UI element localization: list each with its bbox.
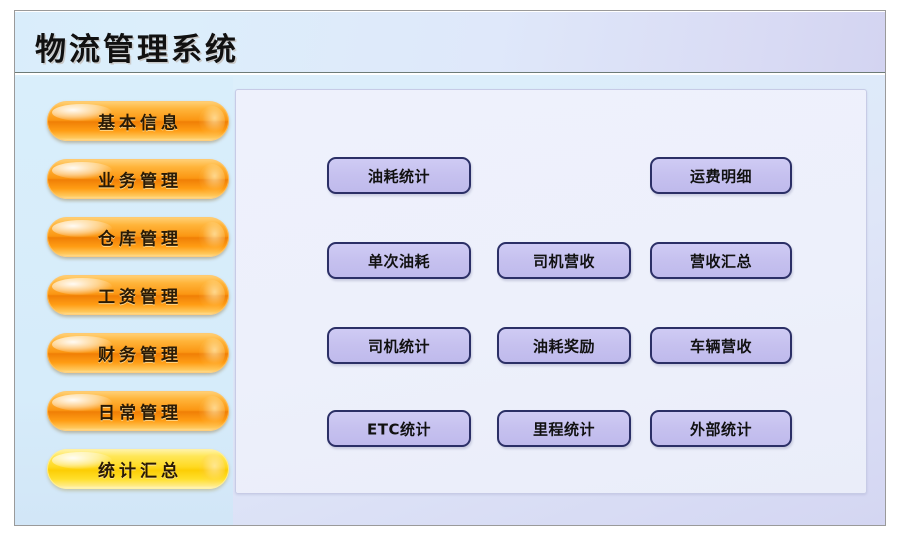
module-button-label: 外部统计 — [652, 418, 790, 439]
app-window: 物流管理系统 基本信息 业务管理 仓库管理 工资管理 财务管理 日常管理 统计汇… — [14, 10, 886, 526]
sidebar-item-label: 统计汇总 — [47, 457, 229, 482]
module-button-driver-revenue[interactable]: 司机营收 — [497, 242, 631, 279]
module-button-label: 司机统计 — [329, 335, 469, 356]
sidebar-item-label: 仓库管理 — [47, 225, 229, 250]
module-button-label: ETC统计 — [329, 418, 469, 439]
module-button-single-fuel[interactable]: 单次油耗 — [327, 242, 471, 279]
sidebar-item-label: 工资管理 — [47, 283, 229, 308]
sidebar-item-statistics[interactable]: 统计汇总 — [47, 449, 229, 489]
module-button-fuel-statistics[interactable]: 油耗统计 — [327, 157, 471, 194]
module-button-label: 运费明细 — [652, 165, 790, 186]
module-button-label: 营收汇总 — [652, 250, 790, 271]
sidebar-item-basic-info[interactable]: 基本信息 — [47, 101, 229, 141]
module-button-fuel-bonus[interactable]: 油耗奖励 — [497, 327, 631, 364]
sidebar-item-business[interactable]: 业务管理 — [47, 159, 229, 199]
module-button-revenue-summary[interactable]: 营收汇总 — [650, 242, 792, 279]
module-button-label: 里程统计 — [499, 418, 629, 439]
sidebar-nav: 基本信息 业务管理 仓库管理 工资管理 财务管理 日常管理 统计汇总 — [15, 77, 233, 525]
sidebar-item-warehouse[interactable]: 仓库管理 — [47, 217, 229, 257]
sidebar-item-label: 业务管理 — [47, 167, 229, 192]
module-button-label: 司机营收 — [499, 250, 629, 271]
content-panel: 油耗统计 运费明细 单次油耗 司机营收 营收汇总 司机统计 油耗奖励 车辆营收 … — [235, 89, 867, 494]
module-button-label: 油耗奖励 — [499, 335, 629, 356]
module-button-mileage-statistics[interactable]: 里程统计 — [497, 410, 631, 447]
title-bar: 物流管理系统 — [15, 11, 885, 73]
module-button-label: 车辆营收 — [652, 335, 790, 356]
sidebar-item-label: 基本信息 — [47, 109, 229, 134]
sidebar-item-finance[interactable]: 财务管理 — [47, 333, 229, 373]
module-button-label: 单次油耗 — [329, 250, 469, 271]
sidebar-item-salary[interactable]: 工资管理 — [47, 275, 229, 315]
sidebar-item-label: 财务管理 — [47, 341, 229, 366]
module-button-label: 油耗统计 — [329, 165, 469, 186]
module-button-freight-detail[interactable]: 运费明细 — [650, 157, 792, 194]
sidebar-item-daily[interactable]: 日常管理 — [47, 391, 229, 431]
module-button-vehicle-revenue[interactable]: 车辆营收 — [650, 327, 792, 364]
module-button-driver-statistics[interactable]: 司机统计 — [327, 327, 471, 364]
sidebar-item-label: 日常管理 — [47, 399, 229, 424]
page-title: 物流管理系统 — [35, 24, 239, 69]
module-button-external-statistics[interactable]: 外部统计 — [650, 410, 792, 447]
module-button-etc-statistics[interactable]: ETC统计 — [327, 410, 471, 447]
